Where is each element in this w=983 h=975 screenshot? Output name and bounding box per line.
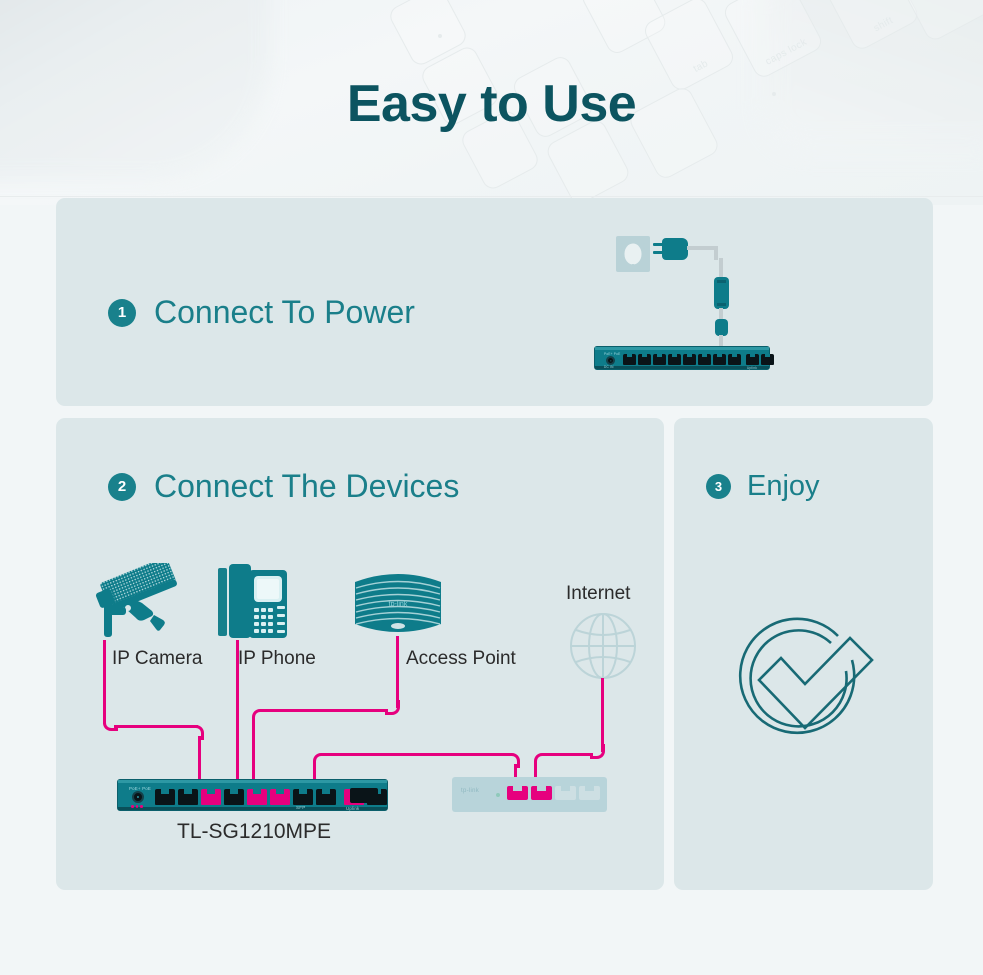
switch-led-row	[131, 805, 143, 808]
step-2-badge: 2	[108, 473, 136, 501]
step-2-label: Connect The Devices	[154, 468, 459, 505]
outlet-slot-right	[643, 243, 645, 249]
svg-text:tp-link: tp-link	[389, 601, 408, 608]
switch-port-3	[201, 789, 221, 805]
step-3-heading: 3 Enjoy	[706, 470, 820, 503]
gateway-led	[496, 793, 500, 797]
access-point-icon: tp-link	[353, 570, 443, 638]
ip-camera-icon	[92, 563, 187, 641]
switch-dc-jack	[606, 356, 615, 365]
cable-ip-camera	[103, 640, 106, 724]
switch-dc-jack	[132, 791, 144, 803]
switch-port	[638, 354, 651, 365]
power-outlet-icon	[616, 236, 650, 272]
cable-switch-uplink	[324, 753, 511, 756]
network-switch-icon: PoE+ PoE Uplink	[117, 779, 388, 811]
adapter-cap-top	[717, 280, 725, 283]
switch-port-7	[293, 789, 313, 805]
outlet-slot-left	[621, 243, 623, 249]
step-3-badge: 3	[706, 474, 731, 499]
switch-port-8	[316, 789, 336, 805]
cable-internet	[543, 753, 593, 756]
switch-port	[623, 354, 636, 365]
switch-port-4	[224, 789, 244, 805]
adapter-cap-bottom	[717, 303, 725, 306]
gateway-port-1	[507, 786, 528, 800]
switch-port	[698, 354, 711, 365]
switch-bottom-edge	[595, 366, 769, 369]
cable-ip-phone	[236, 640, 239, 784]
power-adapter-icon	[714, 277, 729, 309]
switch-port	[653, 354, 666, 365]
step-1-label: Connect To Power	[154, 294, 415, 331]
switch-port	[668, 354, 681, 365]
cable-corner	[103, 716, 118, 731]
power-plug-icon	[662, 238, 688, 260]
gateway-device-icon: tp-link	[452, 777, 607, 812]
switch-port-uplink	[761, 354, 774, 365]
switch-top-edge	[595, 347, 769, 350]
cable-corner	[505, 753, 520, 768]
cable-access-point	[252, 720, 255, 784]
switch-sfp-slot	[350, 788, 378, 803]
gateway-port-2	[531, 786, 552, 800]
switch-port-2	[178, 789, 198, 805]
switch-port	[713, 354, 726, 365]
switch-port-5	[247, 789, 267, 805]
switch-microtext-dc: DC IN	[604, 365, 614, 369]
switch-port	[683, 354, 696, 365]
keyboard-key-dot-icon	[438, 34, 442, 38]
cable-corner	[189, 725, 204, 740]
plug-prong	[653, 251, 663, 254]
outlet-ground	[631, 264, 635, 268]
device-label-access-point: Access Point	[406, 648, 516, 670]
page-root: tab caps lock shift Easy to Use 1 Connec…	[0, 0, 983, 975]
header-divider	[0, 196, 983, 197]
gateway-port-4	[579, 786, 600, 800]
network-switch-icon: PoE+ PoE DC IN Uplink	[594, 346, 770, 370]
switch-port-6	[270, 789, 290, 805]
device-label-internet: Internet	[566, 583, 630, 605]
switch-microtext-uplink: Uplink	[346, 806, 359, 811]
switch-top-edge	[118, 780, 387, 783]
step-2-heading: 2 Connect The Devices	[108, 468, 459, 505]
cable-ip-camera	[198, 736, 201, 784]
power-connector-icon	[715, 319, 728, 336]
switch-microtext-poe: PoE+ PoE	[129, 786, 151, 791]
cable-access-point	[261, 709, 388, 712]
cable-internet	[601, 678, 604, 752]
plug-prong	[653, 243, 663, 246]
switch-port-uplink	[746, 354, 759, 365]
device-label-ip-camera: IP Camera	[112, 648, 202, 670]
globe-icon	[568, 611, 638, 681]
switch-port-1	[155, 789, 175, 805]
switch-model-label: TL-SG1210MPE	[177, 820, 331, 844]
circle-check-icon	[734, 604, 874, 752]
ip-phone-icon	[216, 562, 288, 642]
cable-ip-camera	[114, 725, 198, 728]
device-label-ip-phone: IP Phone	[238, 648, 316, 670]
page-title: Easy to Use	[0, 78, 983, 130]
step-3-label: Enjoy	[747, 470, 820, 503]
gateway-port-3	[555, 786, 576, 800]
switch-microtext-sfp: SFP	[296, 805, 306, 810]
power-cord-corner	[714, 246, 718, 260]
switch-microtext-uplink: Uplink	[747, 366, 757, 370]
cable-access-point	[396, 636, 399, 708]
switch-port	[728, 354, 741, 365]
step-1-heading: 1 Connect To Power	[108, 294, 415, 331]
step-1-badge: 1	[108, 299, 136, 327]
outlet-face	[625, 244, 642, 265]
gateway-brand-label: tp-link	[461, 788, 479, 794]
